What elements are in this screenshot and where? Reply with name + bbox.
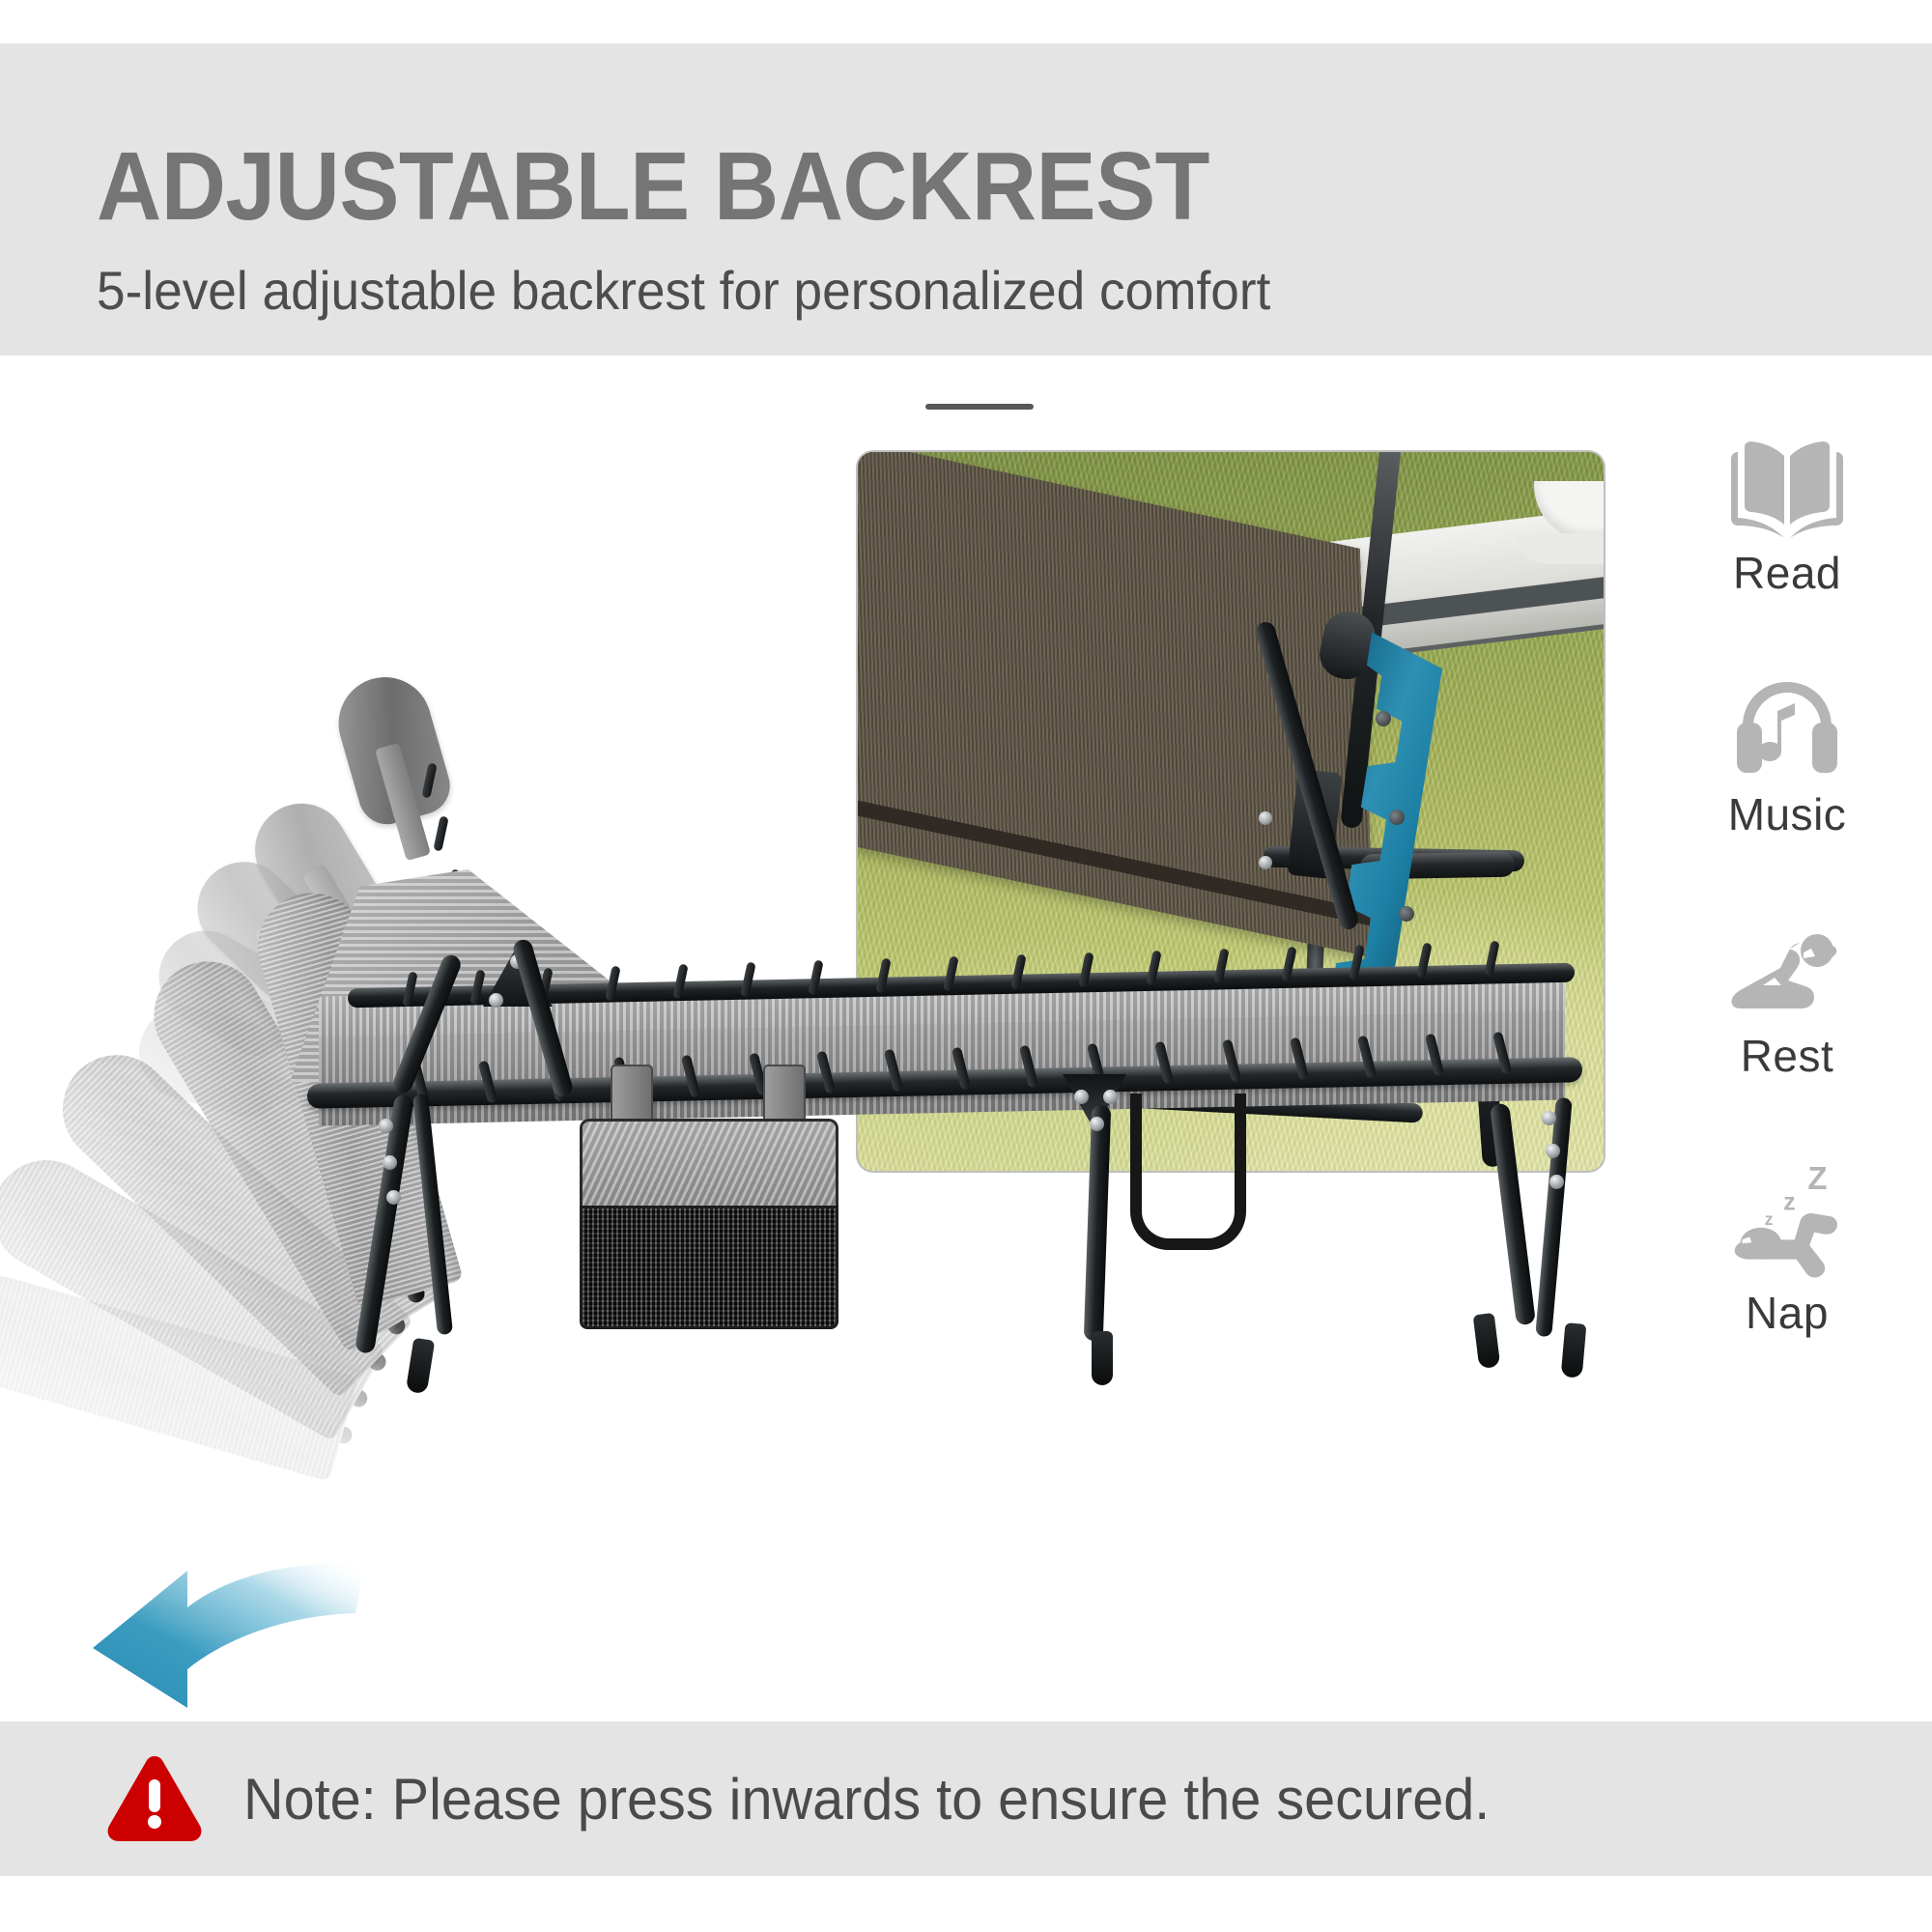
person-sleeping-zzz-icon: Z z z xyxy=(1727,1157,1847,1281)
leg-screw xyxy=(1542,1111,1556,1125)
side-storage-pocket xyxy=(580,1101,833,1323)
activity-item-rest[interactable]: Rest xyxy=(1727,916,1847,1082)
page-title: ADJUSTABLE BACKREST xyxy=(97,138,1209,235)
open-book-icon xyxy=(1727,433,1847,541)
svg-text:z: z xyxy=(1765,1209,1774,1229)
note-bar: Note: Please press inwards to ensure the… xyxy=(0,1721,1932,1876)
leg-screw xyxy=(1074,1090,1089,1104)
activity-item-nap[interactable]: Z z z Nap xyxy=(1727,1157,1847,1339)
leg-screw xyxy=(1103,1090,1118,1104)
leg-screw xyxy=(1546,1144,1560,1158)
leg-screw xyxy=(379,1119,393,1133)
svg-text:z: z xyxy=(1783,1188,1796,1215)
activity-label: Read xyxy=(1733,547,1841,599)
inset-divider-dash xyxy=(925,404,1034,410)
carry-strap xyxy=(1130,1094,1246,1250)
activity-label: Music xyxy=(1728,788,1847,840)
infographic-canvas: ADJUSTABLE BACKREST 5-level adjustable b… xyxy=(0,0,1932,1932)
svg-text:Z: Z xyxy=(1807,1160,1827,1196)
product-illustration xyxy=(0,734,1642,1710)
headphones-music-icon xyxy=(1727,674,1847,782)
leg-screw xyxy=(383,1155,397,1170)
leg-screw xyxy=(1090,1117,1104,1131)
pocket-mesh-panel xyxy=(580,1206,838,1329)
pocket-panel xyxy=(580,1119,838,1210)
activity-item-read[interactable]: Read xyxy=(1727,433,1847,599)
note-text: Note: Please press inwards to ensure the… xyxy=(243,1766,1490,1833)
person-reclining-icon xyxy=(1727,916,1847,1024)
ratchet-bolt xyxy=(1376,711,1391,726)
activity-icon-list: Read Music xyxy=(1642,433,1932,1339)
leg-screw xyxy=(1549,1175,1564,1189)
activity-label: Nap xyxy=(1746,1287,1829,1339)
page-subtitle: 5-level adjustable backrest for personal… xyxy=(97,264,1270,318)
leg-screw xyxy=(386,1190,401,1205)
warning-triangle-icon xyxy=(106,1754,203,1843)
hinge-screw xyxy=(489,993,503,1008)
header-band: ADJUSTABLE BACKREST 5-level adjustable b… xyxy=(0,43,1932,355)
activity-label: Rest xyxy=(1741,1030,1834,1082)
activity-item-music[interactable]: Music xyxy=(1727,674,1847,840)
leg-foot-cap xyxy=(1092,1331,1113,1385)
